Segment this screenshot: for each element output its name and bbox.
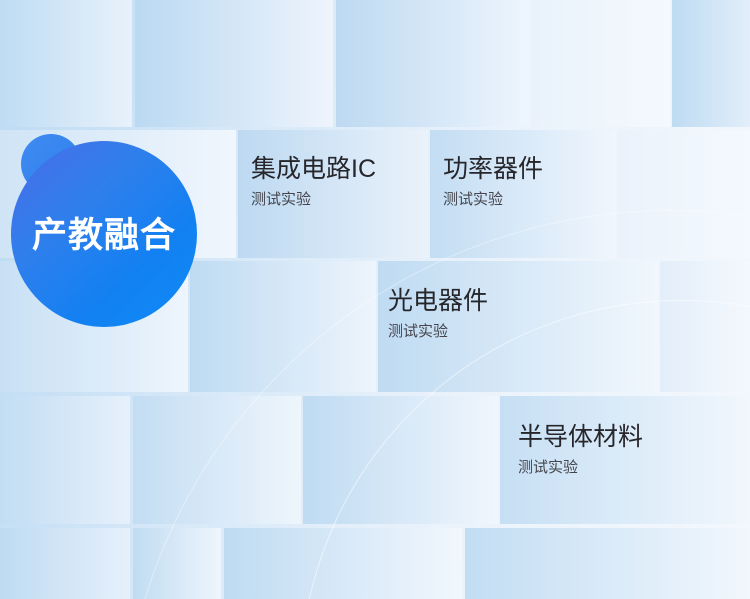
card-integrated-circuit[interactable]: 集成电路IC 测试实验 — [251, 155, 376, 210]
card-title: 功率器件 — [443, 155, 543, 185]
card-title: 光电器件 — [388, 287, 488, 317]
bg-tile — [303, 396, 498, 524]
infographic-canvas: 产教融合 集成电路IC 测试实验 功率器件 测试实验 光电器件 测试实验 半导体… — [0, 0, 750, 599]
card-optoelectronic-device[interactable]: 光电器件 测试实验 — [388, 287, 488, 342]
bg-tile — [660, 261, 750, 392]
bg-tile — [133, 528, 221, 599]
card-title: 半导体材料 — [518, 423, 643, 453]
bg-tile — [190, 261, 376, 392]
card-subtitle: 测试实验 — [251, 190, 376, 210]
card-subtitle: 测试实验 — [388, 322, 488, 342]
bg-tile — [336, 0, 530, 127]
badge: 产教融合 — [0, 128, 210, 303]
bg-tile — [672, 0, 750, 127]
bg-tile — [465, 528, 750, 599]
badge-label: 产教融合 — [32, 218, 176, 253]
bg-tile — [533, 0, 670, 127]
bg-tile — [0, 0, 132, 127]
bg-tile — [0, 396, 130, 524]
card-title: 集成电路IC — [251, 155, 376, 185]
card-subtitle: 测试实验 — [443, 190, 543, 210]
bg-tile — [133, 396, 301, 524]
badge-circle: 产教融合 — [11, 141, 197, 327]
bg-tile — [618, 130, 750, 258]
bg-tile — [0, 528, 130, 599]
bg-tile — [135, 0, 333, 127]
card-semiconductor-material[interactable]: 半导体材料 测试实验 — [518, 423, 643, 478]
bg-tile — [224, 528, 462, 599]
card-subtitle: 测试实验 — [518, 458, 643, 478]
card-power-device[interactable]: 功率器件 测试实验 — [443, 155, 543, 210]
